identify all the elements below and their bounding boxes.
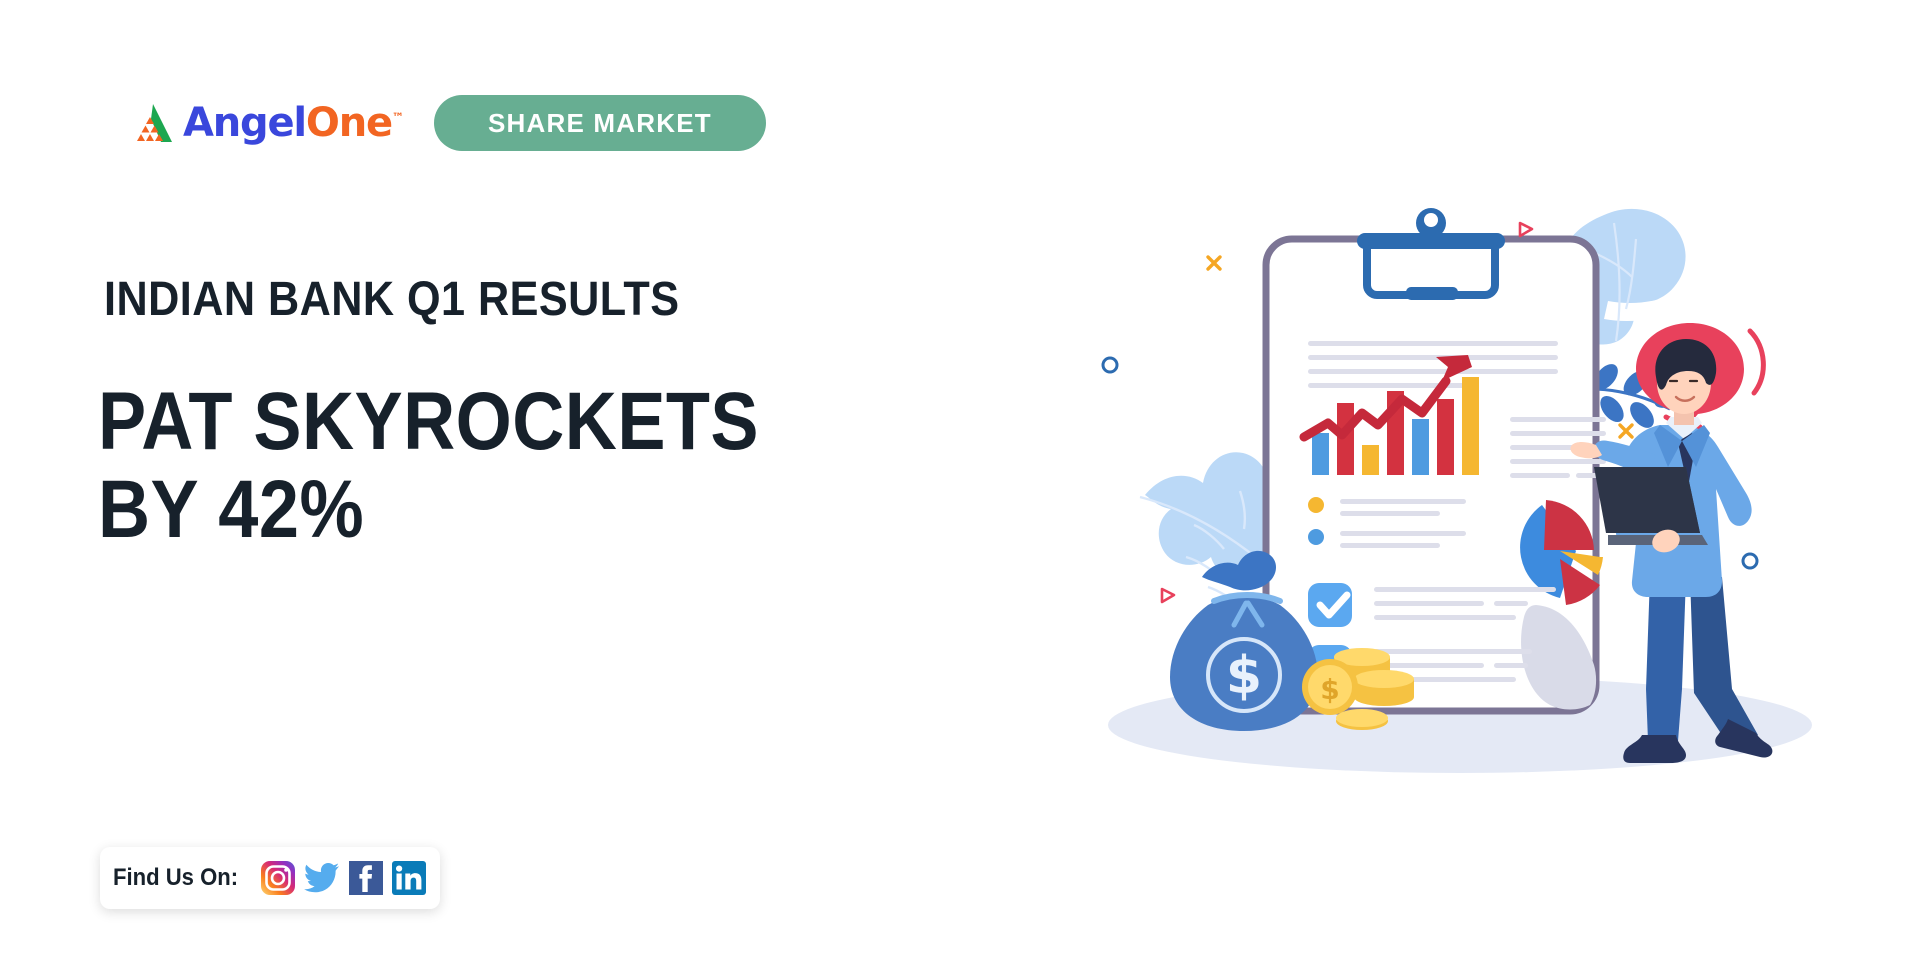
cross-mark	[1208, 257, 1220, 269]
trademark-symbol: ™	[392, 111, 404, 125]
bar-5	[1412, 419, 1429, 475]
brand-name-primary: Angel	[183, 100, 306, 146]
linkedin-icon[interactable]	[392, 861, 426, 895]
triangle-outline-mark	[1162, 589, 1174, 602]
circle-outline-mark	[1103, 358, 1117, 372]
social-icon-list	[261, 861, 426, 895]
header: AngelOne™ SHARE MARKET	[128, 95, 766, 151]
checkbox-checked-icon	[1308, 583, 1352, 627]
cross-mark	[1620, 425, 1632, 437]
triangle-outline-mark	[1520, 223, 1532, 236]
headline-line-2: BY 42%	[98, 466, 759, 554]
bar-2	[1337, 403, 1354, 475]
brand-logo[interactable]: AngelOne™	[128, 99, 404, 147]
svg-text:$: $	[1226, 646, 1262, 706]
business-report-clipboard-illustration: $ $ $	[1090, 205, 1830, 825]
instagram-icon[interactable]	[261, 861, 295, 895]
headline-line-1: PAT SKYROCKETS	[98, 378, 759, 466]
social-follow-card: Find Us On:	[100, 847, 440, 909]
angelone-triangle-logo-icon	[128, 102, 174, 144]
bar-7	[1462, 377, 1479, 475]
bar-6	[1437, 399, 1454, 475]
twitter-icon[interactable]	[304, 861, 340, 895]
brand-wordmark: AngelOne™	[183, 103, 404, 143]
facebook-icon[interactable]	[349, 861, 383, 895]
poster-canvas: AngelOne™ SHARE MARKET INDIAN BANK Q1 RE…	[0, 0, 1920, 966]
social-label: Find Us On:	[113, 864, 238, 892]
share-market-button[interactable]: SHARE MARKET	[434, 95, 766, 151]
bar-3	[1362, 445, 1379, 475]
page-title: PAT SKYROCKETS BY 42%	[98, 378, 759, 553]
kicker-text: INDIAN BANK Q1 RESULTS	[104, 272, 680, 327]
brand-name-secondary: One	[306, 100, 392, 146]
svg-text:$: $	[1320, 673, 1339, 706]
bar-1	[1312, 433, 1329, 475]
circle-outline-mark	[1743, 554, 1757, 568]
